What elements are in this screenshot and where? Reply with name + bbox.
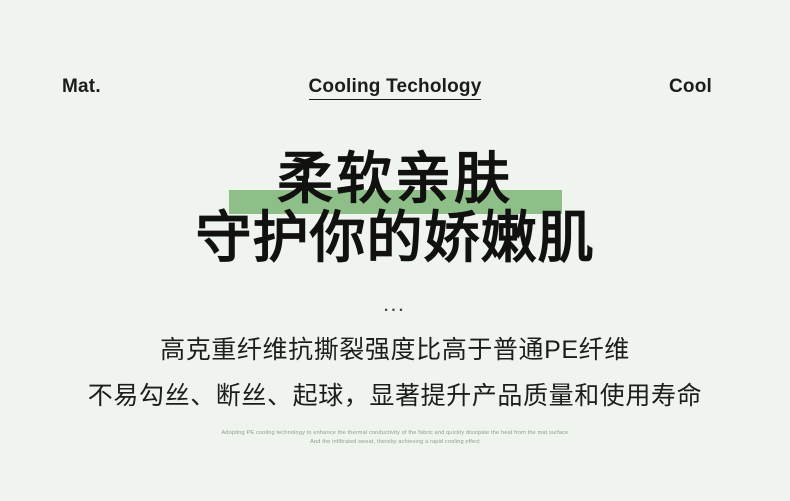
ellipsis-separator: ... [0, 298, 790, 316]
headline-line-2: 守护你的娇嫩肌 [0, 206, 790, 270]
top-nav-row: Mat. Cooling Techology Cool [0, 72, 790, 106]
fineprint-line-2: And the infiltrated sweat, thereby achie… [0, 438, 790, 447]
product-banner: Mat. Cooling Techology Cool 柔软亲肤 守护你的娇嫩肌… [0, 0, 790, 501]
nav-item-cooling-techology-label: Cooling Techology [309, 76, 482, 100]
fineprint-line-1: Adopting PE cooling technology to enhanc… [0, 429, 790, 438]
feature-copy-line-1: 高克重纤维抗撕裂强度比高于普通PE纤维 [0, 334, 790, 366]
headline-line-1: 柔软亲肤 [0, 148, 790, 210]
nav-item-cool[interactable]: Cool [669, 72, 712, 102]
headline-block: 柔软亲肤 守护你的娇嫩肌 [0, 148, 790, 288]
feature-copy-line-2: 不易勾丝、断丝、起球，显著提升产品质量和使用寿命 [0, 380, 790, 412]
